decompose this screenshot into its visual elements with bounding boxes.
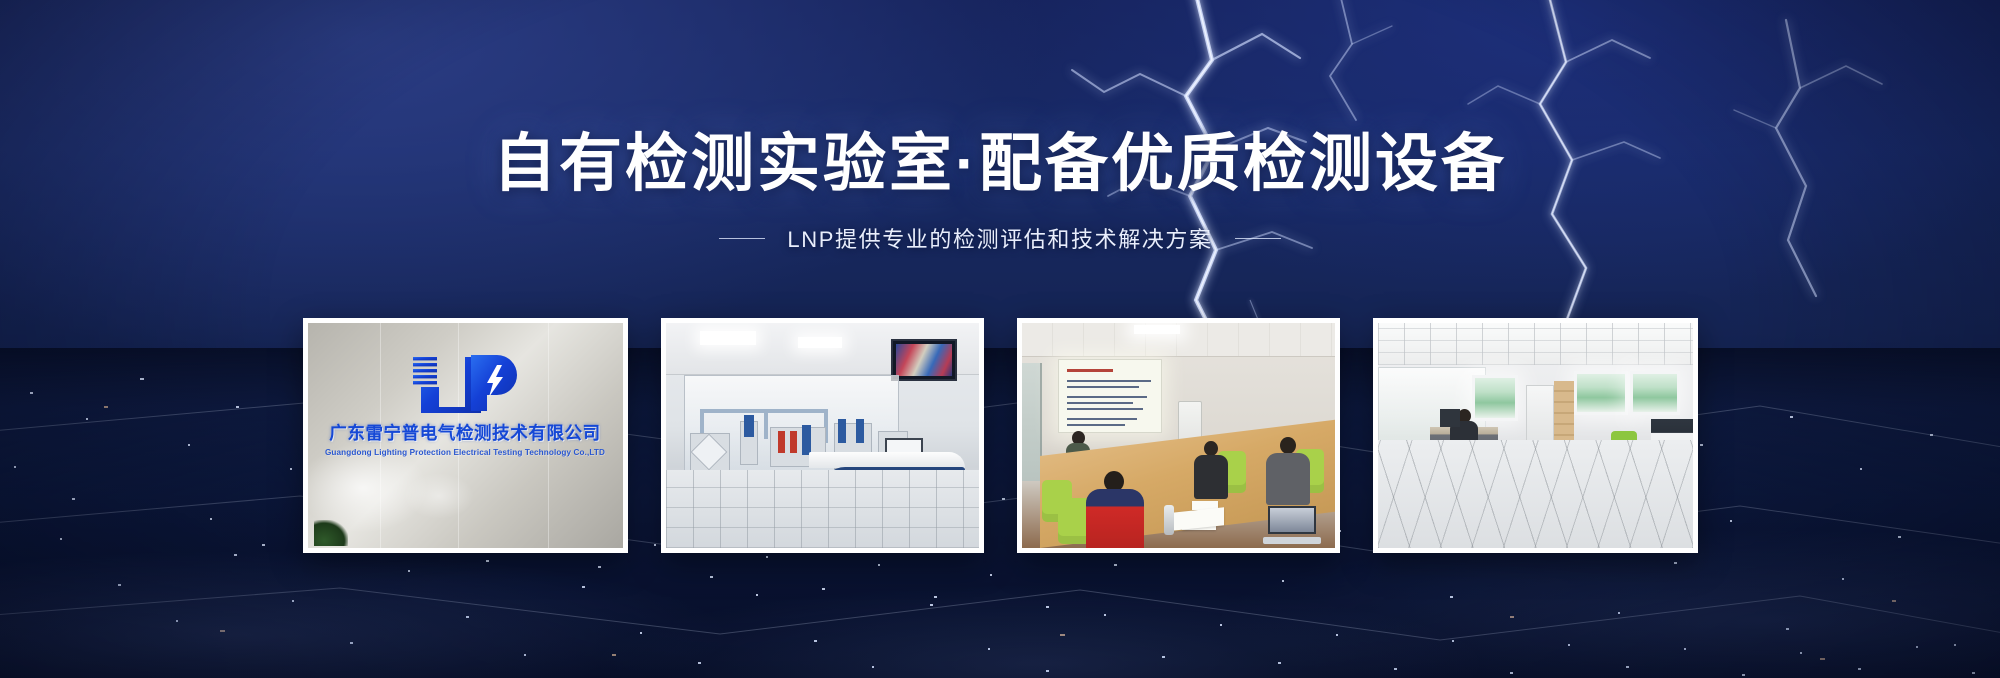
window-right-1 xyxy=(1574,371,1628,415)
person-mid-head xyxy=(1204,441,1218,456)
office-monitor xyxy=(1440,409,1460,427)
person-right-head xyxy=(1280,437,1296,454)
photo-training-meeting xyxy=(1022,323,1335,548)
rule-right-icon xyxy=(1235,238,1281,239)
person-front-body xyxy=(1086,489,1144,548)
company-name-cn: 广东雷宁普电气检测技术有限公司 xyxy=(329,420,601,445)
photo-company-logo-wall: 广东雷宁普电气检测技术有限公司 Guangdong Lighting Prote… xyxy=(308,323,623,548)
gallery-card-company-logo-wall[interactable]: 广东雷宁普电气检测技术有限公司 Guangdong Lighting Prote… xyxy=(303,318,628,553)
person-mid-body xyxy=(1194,455,1228,499)
gallery-card-testing-laboratory[interactable] xyxy=(661,318,984,553)
lab-floor xyxy=(666,470,979,548)
rule-left-icon xyxy=(719,238,765,239)
plant-decoration xyxy=(314,520,348,546)
meeting-door xyxy=(1022,363,1042,481)
banner-subtitle-row: LNP提供专业的检测评估和技术解决方案 xyxy=(0,222,2000,254)
projection-screen xyxy=(1058,359,1162,433)
wooden-shelf xyxy=(1554,381,1574,447)
gallery-card-training-meeting[interactable] xyxy=(1017,318,1340,553)
gallery-card-office-area[interactable] xyxy=(1373,318,1698,553)
photo-office-area xyxy=(1378,323,1693,548)
window-right-2 xyxy=(1630,371,1680,415)
hero-banner: 自有检测实验室·配备优质检测设备 LNP提供专业的检测评估和技术解决方案 xyxy=(0,0,2000,678)
photo-testing-laboratory xyxy=(666,323,979,548)
laptop-icon xyxy=(1263,506,1321,544)
storage-cabinet xyxy=(1526,385,1554,447)
office-ceiling xyxy=(1378,323,1693,365)
logo-block: 广东雷宁普电气检测技术有限公司 Guangdong Lighting Prote… xyxy=(308,351,623,457)
ceiling-light-icon xyxy=(1134,325,1180,334)
gallery-strip: 广东雷宁普电气检测技术有限公司 Guangdong Lighting Prote… xyxy=(0,318,2000,553)
water-bottle xyxy=(1164,505,1174,535)
banner-headline: 自有检测实验室·配备优质检测设备 xyxy=(0,133,2000,196)
office-floor xyxy=(1378,440,1693,548)
lnp-logo-icon xyxy=(409,351,521,413)
banner-subtitle: LNP提供专业的检测评估和技术解决方案 xyxy=(787,222,1212,254)
company-name-en: Guangdong Lighting Protection Electrical… xyxy=(325,448,605,457)
window-left xyxy=(1472,375,1518,421)
wall-display-icon xyxy=(891,339,957,381)
person-right-body xyxy=(1266,453,1310,505)
